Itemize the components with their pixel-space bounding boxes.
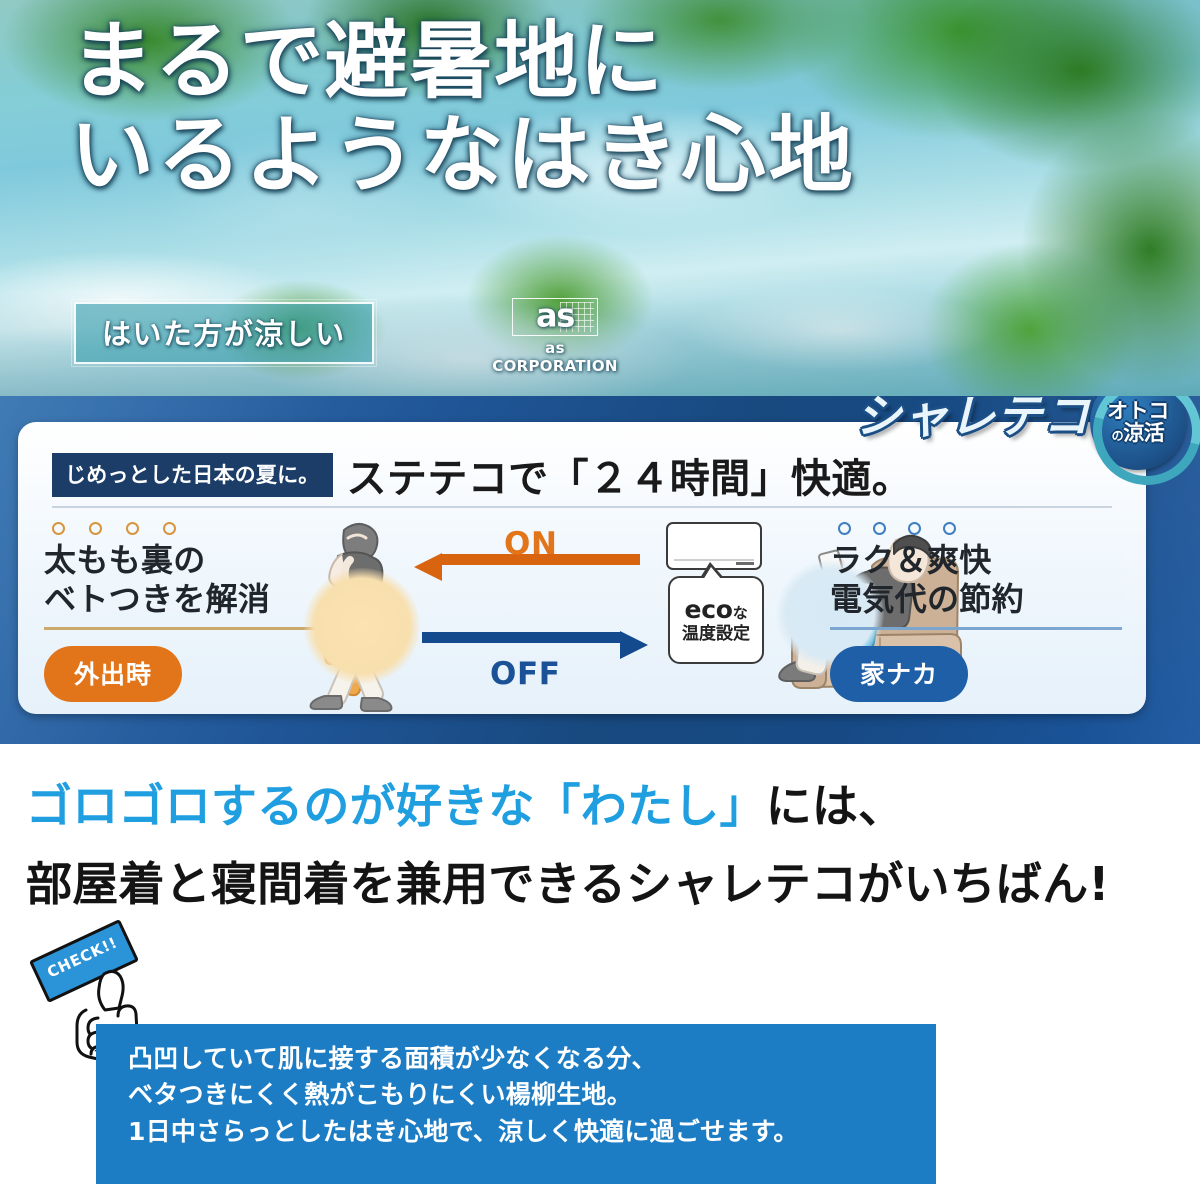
emphasis-dots-right [838, 522, 1130, 535]
logo-as-glyph: as [536, 296, 574, 334]
column-indoor: ラク＆爽快 電気代の節約 家ナカ [830, 522, 1130, 702]
badge-line2-text: 涼活 [1123, 421, 1164, 445]
feature-note-box: 凸凹していて肌に接する面積が少なくなる分、 ベタつきにくく熱がこもりにくい楊柳生… [96, 1024, 936, 1184]
feature-note-inner: 凸凹していて肌に接する面積が少なくなる分、 ベタつきにくく熱がこもりにくい楊柳生… [96, 1024, 936, 1150]
right-pill-badge: 家ナカ [830, 646, 968, 702]
hero-title-line1: まるで避暑地に [70, 12, 664, 110]
bottom-headline-1: ゴロゴロするのが好きな「わたし」には、 [26, 770, 904, 836]
otoko-no-ryokatsu-badge: オトコ の涼活 [1090, 396, 1186, 470]
as-logo-mark-icon: as [512, 298, 598, 336]
hero-tagline-banner: はいた方が涼しい [74, 302, 374, 364]
note-line-3: 1日中さらっとしたはき心地で、涼しく快適に過ごせます。 [128, 1114, 936, 1150]
right-text-line1: ラク＆爽快 [830, 541, 1130, 580]
bottom-headline-1-rest: には、 [766, 779, 905, 833]
as-corporation-logo: as as CORPORATION [480, 298, 630, 375]
bottom-section: ゴロゴロするのが好きな「わたし」には、 部屋着と寝間着を兼用できるシャレテコがい… [0, 744, 1200, 1200]
bottom-headline-1-highlight: ゴロゴロするのが好きな「わたし」 [26, 779, 766, 833]
arrow-off-label: OFF [490, 656, 561, 692]
badge-sup: の [1112, 429, 1124, 443]
eco-label-suffix: な [733, 604, 748, 622]
ad-page: まるで避暑地に いるようなはき心地 はいた方が涼しい as as CORPORA… [0, 0, 1200, 1200]
arrow-off-head-icon [620, 631, 648, 659]
note-line-2: ベタつきにくく熱がこもりにくい楊柳生地。 [128, 1077, 936, 1113]
card-header: じめっとした日本の夏に。 ステテコで「２４時間」快適。 [52, 446, 1116, 504]
hero-title-line2: いるようなはき心地 [70, 108, 1170, 202]
card-columns: 太もも裏の ベトつきを解消 外出時 [18, 518, 1146, 708]
on-off-arrows: ON OFF [406, 542, 656, 656]
hero-section: まるで避暑地に いるようなはき心地 はいた方が涼しい as as CORPORA… [0, 0, 1200, 396]
badge-line2: の涼活 [1112, 422, 1165, 444]
arrow-on-head-icon [414, 553, 442, 581]
eco-temperature-bubble: ecoな 温度設定 [668, 576, 764, 664]
arrow-off-row: OFF [406, 620, 656, 656]
eco-label: ecoな [685, 596, 748, 624]
hero-title: まるで避暑地に いるようなはき心地 [70, 14, 1170, 202]
feature-card: じめっとした日本の夏に。 ステテコで「２４時間」快適。 太もも裏の ベトつきを解… [18, 422, 1146, 714]
arrow-on-row: ON [406, 542, 656, 578]
right-underline [830, 627, 1122, 630]
brand-logo-sharetheco: シャレテコ [855, 396, 1090, 446]
bottom-headline-2: 部屋着と寝間着を兼用できるシャレテコがいちばん! [26, 848, 1110, 914]
aircon-vent [736, 562, 754, 565]
card-chip-label: じめっとした日本の夏に。 [52, 453, 333, 497]
feature-band: シャレテコ オトコ の涼活 じめっとした日本の夏に。 ステテコで「２４時間」快適… [0, 396, 1200, 744]
card-divider [52, 506, 1112, 508]
left-pill-badge: 外出時 [44, 646, 182, 702]
badge-text: オトコ の涼活 [1090, 396, 1186, 470]
eco-sublabel: 温度設定 [682, 625, 750, 644]
walker-halo [304, 568, 420, 684]
arrow-off-icon [422, 632, 622, 643]
arrow-on-label: ON [504, 526, 558, 562]
badge-line1: オトコ [1107, 400, 1169, 422]
card-headline: ステテコで「２４時間」快適。 [347, 446, 913, 504]
right-text-line2: 電気代の節約 [830, 580, 1130, 619]
logo-wordmark: as CORPORATION [480, 339, 630, 375]
note-line-1: 凸凹していて肌に接する面積が少なくなる分、 [128, 1041, 936, 1077]
